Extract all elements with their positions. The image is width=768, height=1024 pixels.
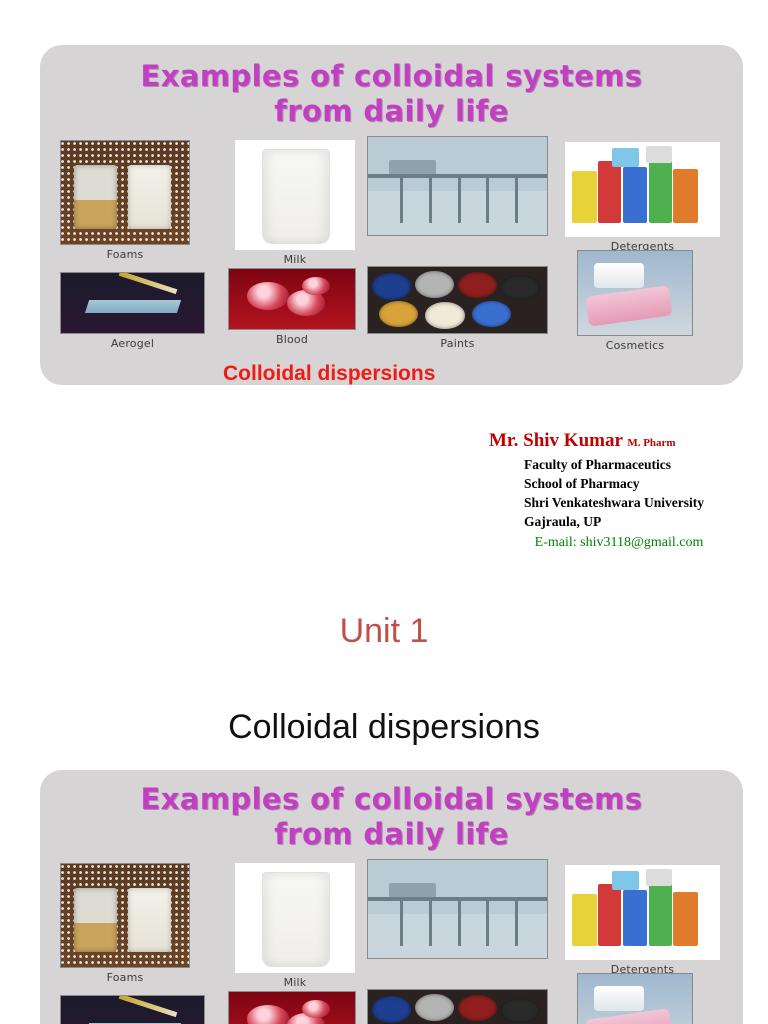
photo-cell-aerogel — [60, 995, 205, 1024]
author-name-text: Mr. Shiv Kumar — [489, 430, 623, 451]
cosmetics-photo — [577, 250, 693, 336]
detergents-photo — [565, 865, 720, 960]
cosmetics-photo — [577, 973, 693, 1024]
unit-heading: Unit 1 — [0, 612, 768, 651]
fog-smoke-photo — [367, 859, 548, 959]
photo-cell-blood: Blood — [228, 268, 356, 346]
photo-caption: Foams — [60, 971, 190, 984]
photo-cell-paints — [367, 989, 548, 1024]
photo-caption: Milk — [235, 253, 355, 266]
poster-title-line-1: Examples of colloidal systems — [40, 59, 743, 94]
poster-panel-top: Examples of colloidal systems from daily… — [40, 45, 743, 385]
author-name: Mr. Shiv Kumar M. Pharm — [489, 430, 749, 452]
fog-smoke-photo — [367, 136, 548, 236]
overlay-caption-colloidal-dispersions: Colloidal dispersions — [223, 362, 435, 386]
poster-title: Examples of colloidal systems from daily… — [40, 45, 743, 130]
blood-photo — [228, 991, 356, 1024]
author-affiliation: Faculty of Pharmaceutics School of Pharm… — [524, 455, 749, 532]
aerogel-photo — [60, 995, 205, 1024]
photo-cell-milk: Milk — [235, 140, 355, 266]
photo-cell-foams: Foams — [60, 863, 190, 984]
milk-photo — [235, 863, 355, 973]
photo-cell-aerogel: Aerogel — [60, 272, 205, 350]
foams-photo — [60, 863, 190, 968]
poster-title-line-2: from daily life — [40, 94, 743, 129]
author-affiliation-line-1: Faculty of Pharmaceutics — [524, 455, 749, 474]
photo-caption: Paints — [367, 337, 548, 350]
foams-photo — [60, 140, 190, 245]
poster-title-line-2: from daily life — [40, 817, 743, 852]
author-email: E-mail: shiv3118@gmail.com — [489, 535, 749, 551]
author-affiliation-line-3: Shri Venkateshwara University — [524, 493, 749, 512]
poster-panel-bottom: Examples of colloidal systems from daily… — [40, 770, 743, 1024]
photo-cell-paints: Paints — [367, 266, 548, 350]
photo-caption: Blood — [228, 333, 356, 346]
author-block: Mr. Shiv Kumar M. Pharm Faculty of Pharm… — [489, 430, 749, 551]
photo-caption: Aerogel — [60, 337, 205, 350]
topic-heading: Colloidal dispersions — [0, 708, 768, 747]
photo-cell-foams: Foams — [60, 140, 190, 261]
photo-cell-blood — [228, 991, 356, 1024]
poster-photo-grid: Foams Milk Fog, smoke — [40, 138, 743, 373]
detergents-photo — [565, 142, 720, 237]
aerogel-photo — [60, 272, 205, 334]
author-affiliation-line-2: School of Pharmacy — [524, 474, 749, 493]
blood-photo — [228, 268, 356, 330]
author-degree: M. Pharm — [627, 437, 675, 449]
photo-cell-detergents: Detergents — [565, 865, 720, 976]
poster-photo-grid: Foams Milk Fog, smoke — [40, 861, 743, 1024]
poster-title: Examples of colloidal systems from daily… — [40, 770, 743, 853]
photo-cell-milk: Milk — [235, 863, 355, 989]
photo-caption: Cosmetics — [577, 339, 693, 352]
photo-cell-detergents: Detergents — [565, 142, 720, 253]
photo-cell-cosmetics — [577, 973, 693, 1024]
photo-caption: Foams — [60, 248, 190, 261]
photo-cell-fog: Fog, smoke — [367, 136, 548, 233]
photo-cell-fog: Fog, smoke — [367, 859, 548, 956]
milk-photo — [235, 140, 355, 250]
poster-title-line-1: Examples of colloidal systems — [40, 782, 743, 817]
photo-cell-cosmetics: Cosmetics — [577, 250, 693, 352]
paints-photo — [367, 989, 548, 1024]
photo-caption: Milk — [235, 976, 355, 989]
paints-photo — [367, 266, 548, 334]
author-affiliation-line-4: Gajraula, UP — [524, 512, 749, 531]
